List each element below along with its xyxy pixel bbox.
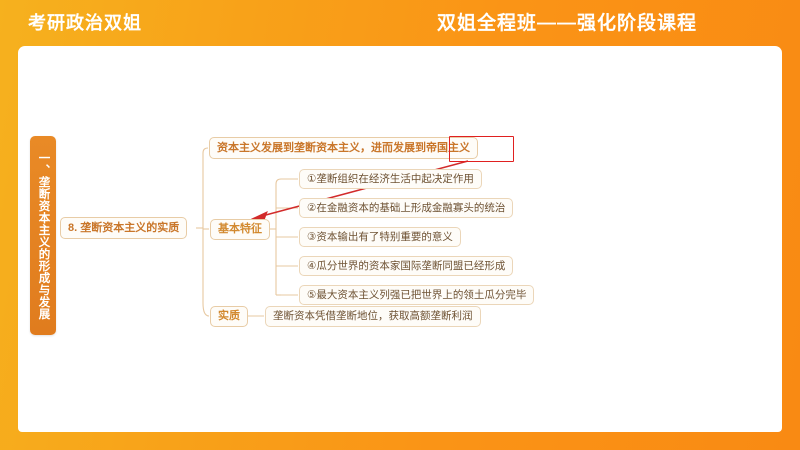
mindmap-leaf-2[interactable]: ②在金融资本的基础上形成金融寡头的统治	[299, 198, 513, 218]
mindmap-leaf-essence-detail[interactable]: 垄断资本凭借垄断地位，获取高额垄断利润	[265, 306, 481, 327]
slide-root: 考研政治双姐 双姐全程班——强化阶段课程	[0, 0, 800, 450]
mindmap-leaf-1[interactable]: ①垄断组织在经济生活中起决定作用	[299, 169, 482, 189]
mindmap-node-essence[interactable]: 实质	[210, 306, 248, 327]
mindmap-canvas: 8. 垄断资本主义的实质 资本主义发展到垄断资本主义，进而发展到帝国主义 基本特…	[0, 0, 800, 450]
mindmap-leaf-5[interactable]: ⑤最大资本主义列强已把世界上的领土瓜分完毕	[299, 285, 534, 305]
content-card: 一、垄断资本主义的形成与发展 8. 垄断资本主义的实质 资本主义发展到垄断资本主…	[18, 46, 782, 432]
mindmap-leaf-3[interactable]: ③资本输出有了特别重要的意义	[299, 227, 461, 247]
mindmap-root-node[interactable]: 8. 垄断资本主义的实质	[60, 217, 187, 239]
mindmap-node-basic-features[interactable]: 基本特征	[210, 219, 270, 240]
mindmap-leaf-4[interactable]: ④瓜分世界的资本家国际垄断同盟已经形成	[299, 256, 513, 276]
mindmap-node-headline[interactable]: 资本主义发展到垄断资本主义，进而发展到帝国主义	[209, 137, 478, 159]
